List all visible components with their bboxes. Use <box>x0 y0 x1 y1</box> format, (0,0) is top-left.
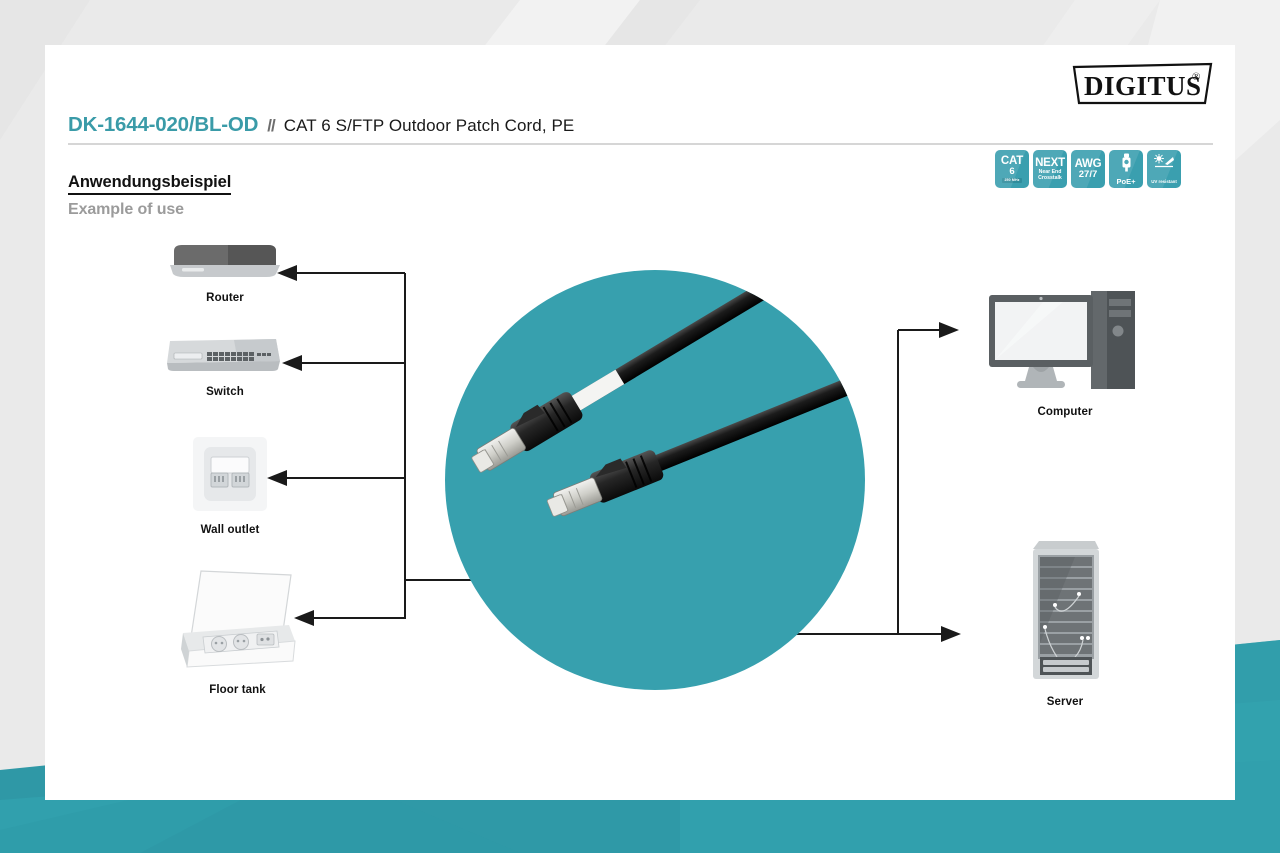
cat6-sftp-patch-cord-photo <box>445 270 865 690</box>
arrow-server <box>941 626 961 642</box>
node-label-wall-outlet: Wall outlet <box>150 524 310 536</box>
wall-outlet-icon <box>150 435 310 518</box>
diagram-node-floor-tank: Floor tank <box>140 563 335 696</box>
arrow-computer <box>939 322 959 338</box>
diagram-node-server: Server <box>995 535 1135 708</box>
node-label-server: Server <box>995 696 1135 708</box>
node-label-switch: Switch <box>145 386 305 398</box>
diagram-node-router: Router <box>145 241 305 304</box>
router-icon <box>145 241 305 286</box>
application-diagram: Router <box>45 45 1235 800</box>
diagram-node-switch: Switch <box>145 333 305 398</box>
node-label-floor-tank: Floor tank <box>140 684 335 696</box>
node-label-computer: Computer <box>970 406 1160 418</box>
floor-tank-icon <box>140 563 335 678</box>
switch-icon <box>145 333 305 380</box>
server-icon <box>995 535 1135 690</box>
node-label-router: Router <box>145 292 305 304</box>
diagram-node-wall-outlet: Wall outlet <box>150 435 310 536</box>
computer-icon <box>970 285 1160 400</box>
datasheet-card: DIGITUS ® DK-1644-020/BL-OD // CAT 6 S/F… <box>45 45 1235 800</box>
diagram-node-computer: Computer <box>970 285 1160 418</box>
